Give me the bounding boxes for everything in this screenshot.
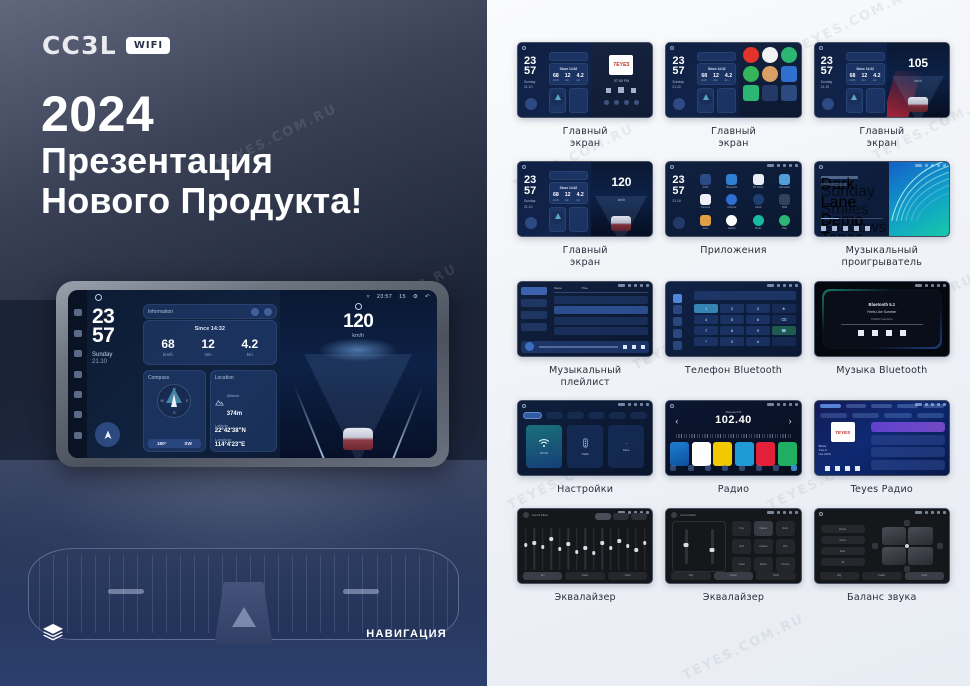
stop-icon[interactable] (835, 466, 840, 471)
eq-band[interactable] (626, 528, 630, 570)
footer-fader[interactable]: Fader (862, 572, 901, 580)
eq-band[interactable] (617, 528, 621, 570)
eq-band[interactable] (575, 528, 579, 570)
gallery-item[interactable]: 1 2 3 ★ 4 5 6 ⌫ 7 8 9 ☎ (665, 281, 801, 397)
table-row[interactable] (554, 296, 648, 304)
layers-icon[interactable] (42, 622, 64, 642)
information-widget[interactable] (846, 52, 885, 61)
eq-band[interactable] (643, 528, 647, 570)
settings-icon[interactable] (762, 85, 778, 101)
preset-driver[interactable]: Driver (821, 525, 865, 533)
camera-icon[interactable] (700, 194, 711, 205)
table-header: NameTime (554, 286, 648, 293)
play-pause-icon[interactable] (843, 226, 848, 231)
stop-icon[interactable] (618, 87, 624, 93)
app-drawer[interactable]: AVIN Bluetooth BT Music Calculator Camer… (694, 172, 795, 231)
screen-thumbnail[interactable]: Sound Effect Pop Classic Rock Jazz (665, 508, 801, 584)
effect-flat[interactable]: Flat (776, 539, 795, 554)
footer-fader[interactable]: Fader (565, 572, 604, 580)
eq-band[interactable] (532, 528, 536, 570)
home-icon[interactable] (522, 165, 526, 169)
app-item[interactable]: Music (747, 213, 769, 231)
play-store-icon[interactable] (779, 215, 790, 226)
location-widget[interactable] (866, 88, 885, 113)
station-list[interactable] (871, 422, 945, 471)
app-item[interactable]: Chrome (721, 193, 743, 211)
tab-display[interactable] (567, 412, 584, 419)
app-item[interactable]: AVIN (694, 172, 716, 190)
preset-tile[interactable] (713, 442, 732, 466)
next-station-icon[interactable]: › (789, 416, 792, 426)
camera-icon[interactable] (781, 66, 797, 82)
app-label: Clock (755, 206, 761, 209)
key-8[interactable]: 8 (720, 326, 744, 335)
dash-button-right[interactable] (343, 589, 379, 594)
dialpad-icon[interactable] (673, 294, 682, 303)
loc-icon[interactable] (756, 465, 762, 471)
weather-icon[interactable] (762, 47, 778, 63)
footer-eq[interactable]: EQ (671, 572, 710, 580)
gallery-item[interactable]: 2357 Sunday21.10 Since 14:32 68km/h 12mi… (814, 42, 950, 158)
key-4[interactable]: 4 (694, 315, 718, 324)
app-item[interactable]: Gallery (721, 213, 743, 231)
hero-year: 2024 (41, 88, 363, 141)
gallery-item[interactable]: Dark Lane Demo Tapes Sunday Smiles Shado… (814, 161, 950, 277)
screen-thumbnail[interactable]: 2357 Sunday21.10 Since 14:32 68km/h 12mi… (665, 42, 801, 118)
source-icon[interactable] (614, 100, 619, 105)
gallery-item[interactable]: 2357 Sunday21.10 Since 14:32 68km/h 12mi… (517, 161, 653, 277)
eq-band[interactable] (549, 528, 553, 570)
screen-thumbnail[interactable]: 2357 21.10 AVIN Bluetooth BT Music Calcu… (665, 161, 801, 237)
car-dashboard (0, 460, 487, 686)
key-star[interactable]: * (694, 337, 718, 346)
source-icon[interactable] (624, 100, 629, 105)
driving-view[interactable]: ▿ 23:57 15 ⚙ ↶ (280, 290, 438, 458)
equalizer-footer[interactable]: EQ Fader Field (523, 572, 647, 580)
progress-bar[interactable] (841, 324, 922, 325)
refresh-icon[interactable] (251, 308, 259, 316)
contacts-icon[interactable] (673, 305, 682, 314)
card-traffic[interactable]: Traffic (567, 425, 603, 468)
media-source-tabs[interactable] (604, 100, 639, 105)
settings-cards[interactable]: WLAN Traffic ⋯ More (526, 425, 644, 468)
app-shortcuts-widget[interactable] (739, 43, 801, 117)
gallery-item[interactable]: WLAN Traffic ⋯ More (517, 400, 653, 505)
all-apps-icon[interactable] (781, 85, 797, 101)
expand-icon[interactable] (264, 308, 272, 316)
preset-pop[interactable] (613, 513, 629, 520)
information-actions[interactable] (251, 308, 272, 316)
backspace-icon[interactable]: ⌫ (772, 315, 796, 324)
balance-presets[interactable]: Driver Front Rear All (821, 520, 865, 572)
source-icon[interactable] (634, 100, 639, 105)
sidebar-item-tracks[interactable] (521, 287, 547, 295)
filter-talk[interactable] (852, 413, 879, 418)
screen-thumbnail[interactable]: Driver Front Rear All (814, 508, 950, 584)
navigation-fab-button[interactable] (525, 217, 537, 229)
arrow-right-icon[interactable] (937, 543, 943, 549)
home-icon[interactable] (670, 404, 674, 408)
dvr-icon[interactable] (779, 194, 790, 205)
key-1[interactable]: 1 (694, 304, 718, 313)
car-body (343, 428, 373, 450)
home-icon[interactable] (522, 404, 526, 408)
app-item[interactable]: Bluetooth (721, 172, 743, 190)
trip-stats: 68km/h 12min 4.2km (698, 71, 735, 82)
eq-band[interactable] (541, 528, 545, 570)
bluetooth-icon[interactable] (726, 174, 737, 185)
tab-sound[interactable] (546, 412, 563, 419)
progress-bar[interactable] (539, 346, 618, 348)
app-label: Chrome (727, 206, 736, 209)
eq-band[interactable] (566, 528, 570, 570)
trip-widget[interactable]: Since 14:32 68 km/h 12 min (143, 320, 277, 365)
driving-widget[interactable]: 120 km/h (591, 162, 653, 236)
sidebar-item-albums[interactable] (521, 311, 547, 319)
compass-widget[interactable] (549, 88, 566, 113)
navigation-fab-button[interactable] (95, 422, 120, 447)
effect-buttons[interactable]: Pop Classic Rock Jazz Custom Flat Vocal … (732, 521, 795, 572)
key-7[interactable]: 7 (694, 326, 718, 335)
effect-jazz[interactable]: Jazz (732, 539, 751, 554)
eq-band[interactable] (634, 528, 638, 570)
eq-band[interactable] (583, 528, 587, 570)
player-controls[interactable] (819, 466, 867, 471)
location-widget[interactable] (569, 88, 588, 113)
next-icon[interactable] (631, 88, 636, 93)
next-icon[interactable] (900, 330, 906, 336)
card-more[interactable]: ⋯ More (608, 425, 644, 468)
stop-icon[interactable] (886, 330, 892, 336)
table-row[interactable] (554, 327, 648, 335)
eq-band[interactable] (592, 528, 596, 570)
balance-pad[interactable] (872, 520, 943, 572)
prev-icon[interactable] (623, 345, 627, 349)
nav-item-charts[interactable] (871, 404, 892, 409)
equalizer-footer[interactable]: EQ Fader Field (671, 572, 795, 580)
preset-rock[interactable] (631, 513, 647, 520)
station-row[interactable] (871, 460, 945, 470)
gallery-item[interactable]: 2357 Sunday21.10 Since 14:32 68km/h 12mi… (517, 42, 653, 158)
preset-tile[interactable] (778, 442, 797, 466)
compass-widget[interactable] (697, 88, 714, 113)
dash-button-left[interactable] (108, 589, 144, 594)
browser-icon[interactable] (762, 66, 778, 82)
gallery-item[interactable]: 2357 Sunday21.10 Since 14:32 68km/h 12mi… (665, 42, 801, 158)
trip-stats: 68km/h 12min 4.2km (847, 71, 884, 82)
filter-country[interactable] (917, 413, 944, 418)
arrow-up-icon[interactable] (904, 520, 910, 526)
spotify-icon[interactable] (743, 66, 759, 82)
search-icon[interactable] (688, 465, 694, 471)
preset-all[interactable]: All (821, 558, 865, 566)
favorites-icon[interactable] (791, 465, 797, 471)
footer-eq[interactable]: EQ (820, 572, 859, 580)
settings-tabs[interactable] (523, 412, 647, 419)
gallery-item[interactable]: Маршал FM 102.40 ‹ › (665, 400, 801, 505)
now-playing-bar[interactable] (521, 341, 649, 353)
eq-band[interactable] (609, 528, 613, 570)
keypad[interactable]: 1 2 3 ★ 4 5 6 ⌫ 7 8 9 ☎ (694, 304, 796, 346)
screen-thumbnail[interactable]: Bluetooth 5.1 Feels Like Summer Childish… (814, 281, 950, 357)
equalizer-bands[interactable] (524, 528, 646, 570)
key-3[interactable]: 3 (746, 304, 770, 313)
effect-country[interactable]: Country (776, 557, 795, 572)
phone-sidebar[interactable] (666, 282, 689, 356)
gallery-item[interactable]: Bluetooth 5.1 Feels Like Summer Childish… (814, 281, 950, 397)
footer-fader[interactable]: Fader (714, 572, 753, 580)
footer-balance[interactable]: Field (905, 572, 944, 580)
home-icon[interactable] (670, 46, 674, 50)
app-item[interactable]: Files (694, 213, 716, 231)
screen-thumbnail[interactable]: WLAN Traffic ⋯ More (517, 400, 653, 476)
play-pause-icon[interactable] (872, 330, 878, 336)
app-item[interactable]: Calculator (773, 172, 795, 190)
information-widget[interactable] (697, 52, 736, 61)
phone-number-field[interactable] (694, 291, 796, 300)
chrome-icon[interactable] (726, 194, 737, 205)
table-row[interactable] (554, 306, 648, 314)
app-item[interactable]: Camera (694, 193, 716, 211)
key-0[interactable]: 0 (720, 337, 744, 346)
information-widget[interactable] (549, 52, 588, 61)
player-controls[interactable] (858, 330, 906, 336)
preset-custom[interactable] (595, 513, 611, 520)
nav-item-genres[interactable] (846, 404, 867, 409)
screen-thumbnail[interactable]: Sound Effect (517, 508, 653, 584)
rail-button-volume-down[interactable] (74, 411, 82, 418)
sidebar-item-artists[interactable] (521, 299, 547, 307)
status-bar (767, 284, 798, 287)
effect-pop[interactable]: Pop (732, 521, 751, 536)
media-widget[interactable]: TEYES 07:50 FM (591, 43, 653, 117)
gear-icon[interactable]: ⚙ (413, 294, 418, 300)
play-store-icon[interactable] (743, 85, 759, 101)
rds-icon[interactable] (739, 465, 745, 471)
gallery-item[interactable]: NameTime (517, 281, 653, 397)
list-icon[interactable] (705, 465, 711, 471)
arrow-left-icon[interactable] (872, 543, 878, 549)
tab-factory[interactable] (588, 412, 605, 419)
preset-rear[interactable]: Rear (821, 547, 865, 555)
call-icon[interactable]: ☎ (772, 326, 796, 335)
station-row[interactable] (871, 447, 945, 457)
file-manager-icon[interactable] (700, 215, 711, 226)
shuffle-icon[interactable] (821, 226, 826, 231)
effect-vocal[interactable]: Vocal (732, 557, 751, 572)
driving-widget[interactable]: 105 km/h (887, 43, 949, 117)
maps-icon[interactable] (781, 47, 797, 63)
home-icon[interactable] (819, 46, 823, 50)
rail-button-home[interactable] (74, 371, 82, 378)
footer-eq[interactable]: EQ (523, 572, 562, 580)
back-button[interactable] (673, 217, 685, 229)
radio-toolbar[interactable] (670, 464, 796, 472)
next-icon[interactable] (845, 466, 850, 471)
gallery-item[interactable]: Driver Front Rear All (814, 508, 950, 613)
nav-item-live[interactable] (820, 404, 841, 409)
rail-button-power[interactable] (74, 309, 82, 316)
eq-band[interactable] (558, 528, 562, 570)
band-icon[interactable] (670, 465, 676, 471)
slider-treble[interactable] (711, 529, 714, 563)
navigation-fab-button[interactable] (822, 98, 834, 110)
effect-custom[interactable]: Custom (754, 539, 773, 554)
frequency-scale[interactable] (676, 434, 790, 438)
tab-system[interactable] (630, 412, 647, 419)
preset-tile[interactable] (670, 442, 689, 466)
table-row[interactable] (554, 317, 648, 325)
gallery-item[interactable]: Sound Effect (517, 508, 653, 613)
hazard-light-button[interactable] (215, 582, 273, 644)
favorite-icon[interactable] (855, 466, 860, 471)
search-icon[interactable] (673, 317, 682, 326)
head-unit-screen[interactable]: 23 57 Sunday 21.10 (68, 290, 437, 458)
screen-thumbnail[interactable]: 2357 Sunday21.10 Since 14:32 68km/h 12mi… (814, 42, 950, 118)
key-6[interactable]: 6 (746, 315, 770, 324)
effect-dance[interactable]: Dance (754, 557, 773, 572)
clock-icon[interactable] (753, 194, 764, 205)
prev-station-icon[interactable]: ‹ (675, 416, 678, 426)
equalizer-footer[interactable]: EQ Fader Field (820, 572, 944, 580)
call-history-icon[interactable] (673, 329, 682, 338)
sound-balance-screen: Driver Front Rear All (815, 509, 949, 583)
key-5[interactable]: 5 (720, 315, 744, 324)
star-action-icon[interactable]: ★ (772, 304, 796, 313)
location-label: Location (215, 375, 272, 381)
prev-icon[interactable] (858, 330, 864, 336)
screen-thumbnail[interactable]: 1 2 3 ★ 4 5 6 ⌫ 7 8 9 ☎ (665, 281, 801, 357)
navigation-fab-button[interactable] (525, 98, 537, 110)
key-9[interactable]: 9 (746, 326, 770, 335)
preset-buttons[interactable] (595, 513, 647, 520)
app-item[interactable]: DVR (773, 193, 795, 211)
effect-rock[interactable]: Rock (776, 521, 795, 536)
home-icon[interactable] (670, 165, 674, 169)
screen-thumbnail[interactable]: Dark Lane Demo Tapes Sunday Smiles Shado… (814, 161, 950, 237)
slider-bass[interactable] (685, 529, 688, 563)
footer-balance[interactable]: Field (756, 572, 795, 580)
location-widget[interactable] (569, 207, 588, 232)
prev-icon[interactable] (606, 88, 611, 93)
information-widget[interactable] (549, 171, 588, 180)
play-pause-icon[interactable] (632, 345, 636, 349)
settings-icon[interactable] (673, 341, 682, 350)
navigation-fab-button[interactable] (673, 98, 685, 110)
next-icon[interactable] (854, 226, 859, 231)
trip-unit: min (201, 352, 214, 357)
key-2[interactable]: 2 (720, 304, 744, 313)
source-icon[interactable] (604, 100, 609, 105)
youtube-icon[interactable] (743, 47, 759, 63)
effect-classic[interactable]: Classic (754, 521, 773, 536)
footer-balance[interactable]: Field (608, 572, 647, 580)
home-icon[interactable] (95, 294, 102, 301)
home-icon[interactable] (522, 46, 526, 50)
rail-button-back[interactable] (74, 391, 82, 398)
settings-icon[interactable] (773, 465, 779, 471)
rail-button-map[interactable] (74, 330, 82, 337)
trip-widget[interactable]: Since 14:32 68km/h 12min 4.2km (846, 63, 885, 85)
fader-sliders[interactable] (672, 521, 726, 572)
sidebar-item-folders[interactable] (521, 323, 547, 331)
station-row[interactable] (871, 422, 945, 432)
eq-title: Sound Effect (532, 513, 548, 517)
item-caption: Главный экран (563, 126, 608, 149)
balance-position-dot[interactable] (905, 544, 909, 548)
calculator-icon[interactable] (779, 174, 790, 185)
bluetooth-music-icon[interactable] (753, 174, 764, 185)
avin-icon[interactable] (700, 174, 711, 185)
tab-wlan[interactable] (523, 412, 542, 419)
screen-thumbnail[interactable]: 2357 Sunday21.10 Since 14:32 68km/h 12mi… (517, 42, 653, 118)
rail-button-settings[interactable] (74, 350, 82, 357)
trip-widget[interactable]: Since 14:32 68km/h 12min 4.2km (697, 63, 736, 85)
next-icon[interactable] (641, 345, 645, 349)
trip-widget[interactable]: Since 14:32 68km/h 12min 4.2km (549, 63, 588, 85)
tab-personal[interactable] (609, 412, 626, 419)
trip-unit: km/h (553, 79, 559, 82)
screen-thumbnail[interactable]: TEYES BitrateTune inLive 100% (814, 400, 950, 476)
rail-button-volume-up[interactable] (74, 432, 82, 439)
prev-icon[interactable] (825, 466, 830, 471)
compass-widget[interactable] (549, 207, 566, 232)
screen-thumbnail[interactable]: Маршал FM 102.40 ‹ › (665, 400, 801, 476)
app-item[interactable]: Play (773, 213, 795, 231)
app-item[interactable]: Clock (747, 193, 769, 211)
back-icon[interactable]: ↶ (425, 294, 430, 300)
trip-widget[interactable]: Since 14:32 68km/h 12min 4.2km (549, 182, 588, 204)
eq-band[interactable] (524, 528, 528, 570)
preset-front[interactable]: Front (821, 536, 865, 544)
gallery-item[interactable]: TEYES BitrateTune inLive 100% (814, 400, 950, 505)
eq-band[interactable] (600, 528, 604, 570)
key-hash[interactable]: # (746, 337, 770, 346)
gallery-item[interactable]: 2357 21.10 AVIN Bluetooth BT Music Calcu… (665, 161, 801, 277)
player-controls[interactable] (821, 226, 870, 231)
station-row[interactable] (871, 435, 945, 445)
home-icon[interactable] (819, 512, 823, 516)
location-widget[interactable] (717, 88, 736, 113)
music-player-icon[interactable] (753, 215, 764, 226)
dialer[interactable]: 1 2 3 ★ 4 5 6 ⌫ 7 8 9 ☎ (689, 282, 801, 356)
location-widget[interactable]: Location Altitude 374m (210, 370, 277, 452)
media-controls[interactable] (606, 87, 636, 93)
preset-tile[interactable] (756, 442, 775, 466)
filter-news[interactable] (820, 413, 847, 418)
more-icon[interactable] (772, 337, 796, 346)
teyes-radio-filters[interactable] (815, 411, 949, 420)
prev-icon[interactable] (832, 226, 837, 231)
gallery-item[interactable]: Sound Effect Pop Classic Rock Jazz (665, 508, 801, 613)
apps-screen: 2357 21.10 AVIN Bluetooth BT Music Calcu… (666, 162, 800, 236)
compass-widget[interactable] (846, 88, 863, 113)
eq-icon[interactable] (722, 465, 728, 471)
station-presets[interactable] (670, 442, 796, 466)
card-wlan[interactable]: WLAN (526, 425, 562, 468)
compass-widget[interactable]: Compass N E S W (143, 370, 206, 452)
screen-thumbnail[interactable]: NameTime (517, 281, 653, 357)
preset-tile[interactable] (692, 442, 711, 466)
clock-widget: 2357 (672, 56, 684, 77)
gallery-icon[interactable] (726, 215, 737, 226)
side-button-rail[interactable] (68, 290, 87, 458)
preset-tile[interactable] (735, 442, 754, 466)
repeat-icon[interactable] (865, 226, 870, 231)
app-item[interactable]: BT Music (747, 172, 769, 190)
filter-sort[interactable] (884, 413, 911, 418)
screen-thumbnail[interactable]: 2357 Sunday21.10 Since 14:32 68km/h 12mi… (517, 161, 653, 237)
